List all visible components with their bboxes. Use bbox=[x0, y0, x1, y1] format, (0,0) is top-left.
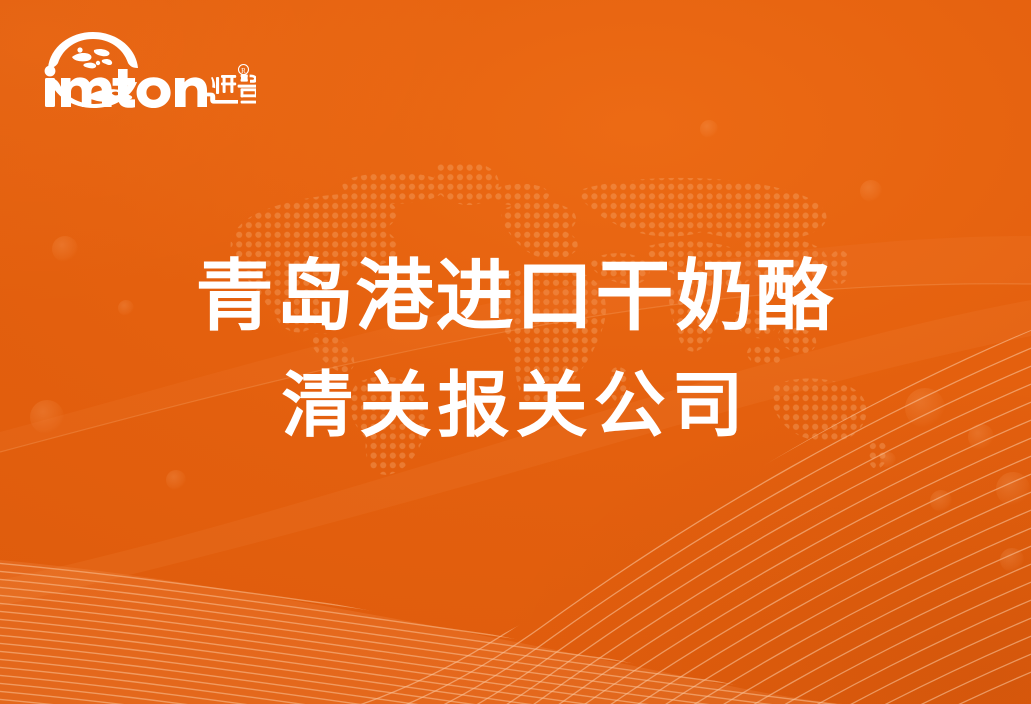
headline-block: 青岛港进口干奶酪 清关报关公司 bbox=[0, 248, 1031, 452]
headline-line-2: 清关报关公司 bbox=[0, 360, 1031, 452]
banner-canvas: R 青岛港进口干奶酪 清关报关公司 bbox=[0, 0, 1031, 704]
svg-text:R: R bbox=[241, 67, 246, 75]
trademark-symbol: R bbox=[239, 65, 249, 76]
imton-logo[interactable]: R bbox=[36, 26, 256, 114]
headline-line-1: 青岛港进口干奶酪 bbox=[0, 248, 1031, 344]
